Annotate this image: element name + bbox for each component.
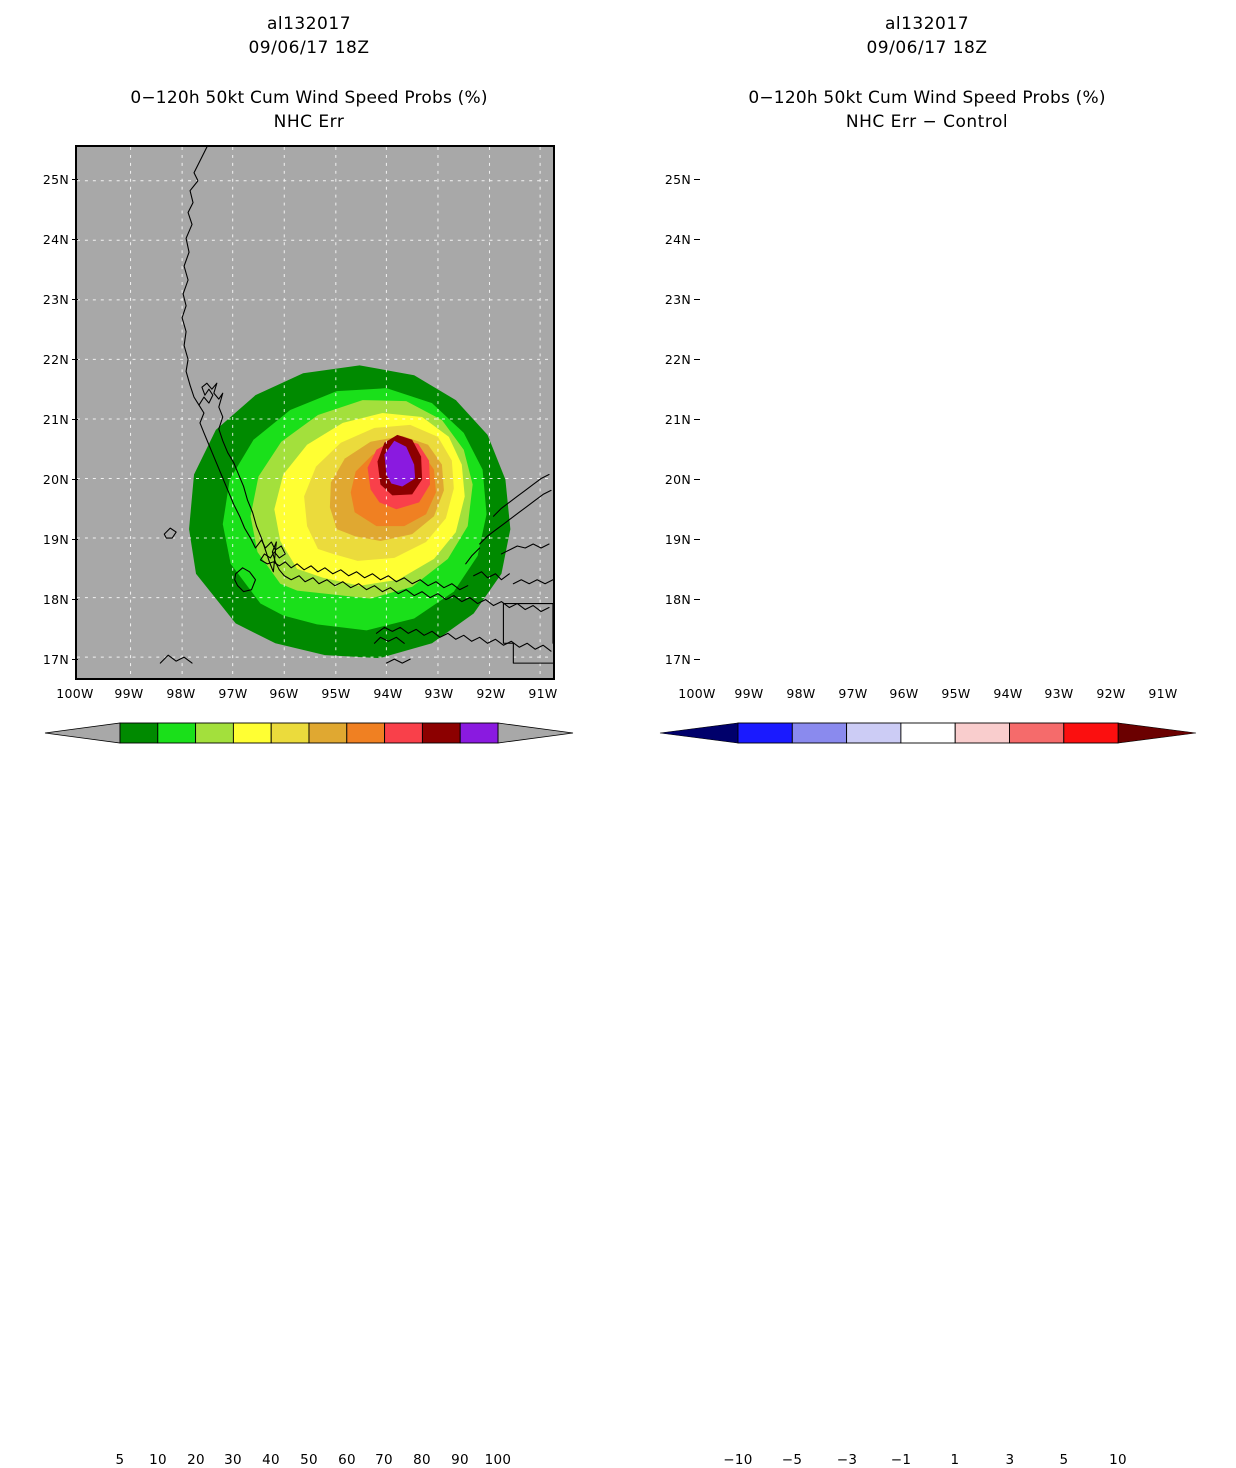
ytick-22N: 22N	[23, 352, 69, 367]
xtick-r-100W: 100W	[674, 686, 720, 701]
panel-nhc-err: al132017 09/06/17 18Z 0−120h 50kt Cum Wi…	[0, 0, 618, 800]
ytick-r-18N: 18N	[645, 592, 691, 607]
ytick-17N: 17N	[23, 652, 69, 667]
xtick-100W: 100W	[52, 686, 98, 701]
xtick-94W: 94W	[365, 686, 411, 701]
cbar-tick-neg5: −5	[769, 1452, 815, 1468]
xtick-r-93W: 93W	[1036, 686, 1082, 701]
right-sub-title: NHC Err − Control	[618, 112, 1236, 132]
cbar-tick-pos5: 5	[1041, 1452, 1087, 1468]
right-storm-id: al132017	[618, 14, 1236, 34]
ytick-24N: 24N	[23, 232, 69, 247]
xtick-r-91W: 91W	[1140, 686, 1186, 701]
ytick-r-22N: 22N	[645, 352, 691, 367]
xtick-r-98W: 98W	[778, 686, 824, 701]
left-storm-id: al132017	[0, 14, 618, 34]
left-datetime: 09/06/17 18Z	[0, 38, 618, 58]
ytick-r-24N: 24N	[645, 232, 691, 247]
colorbar-difference[interactable]: −10 −5 −3 −1 1 3 5 10	[618, 712, 1236, 772]
colorbar-svg-left	[0, 712, 618, 752]
xtick-r-97W: 97W	[830, 686, 876, 701]
xtick-99W: 99W	[106, 686, 152, 701]
map-contour-svg-left	[77, 147, 553, 678]
ytick-20N: 20N	[23, 472, 69, 487]
xtick-r-99W: 99W	[726, 686, 772, 701]
xtick-95W: 95W	[313, 686, 359, 701]
xtick-91W: 91W	[520, 686, 566, 701]
xtick-97W: 97W	[210, 686, 256, 701]
colorbar-under-arrow-left	[45, 723, 120, 743]
colorbar-over-arrow-right	[1118, 723, 1196, 743]
xtick-96W: 96W	[261, 686, 307, 701]
colorbar-swatches-right	[738, 723, 1118, 743]
ytick-21N: 21N	[23, 412, 69, 427]
xtick-r-95W: 95W	[933, 686, 979, 701]
ytick-r-19N: 19N	[645, 532, 691, 547]
ytick-18N: 18N	[23, 592, 69, 607]
cbar-tick-neg3: −3	[824, 1452, 870, 1468]
right-main-title: 0−120h 50kt Cum Wind Speed Probs (%)	[618, 88, 1236, 108]
colorbar-over-arrow-left	[498, 723, 573, 743]
ytick-r-20N: 20N	[645, 472, 691, 487]
left-sub-title: NHC Err	[0, 112, 618, 132]
right-datetime: 09/06/17 18Z	[618, 38, 1236, 58]
colorbar-under-arrow-right	[660, 723, 738, 743]
ytick-r-21N: 21N	[645, 412, 691, 427]
left-main-title: 0−120h 50kt Cum Wind Speed Probs (%)	[0, 88, 618, 108]
cbar-tick-pos3: 3	[987, 1452, 1033, 1468]
xtick-92W: 92W	[468, 686, 514, 701]
xtick-93W: 93W	[416, 686, 462, 701]
colorbar-nhc-err[interactable]: 5 10 20 30 40 50 60 70 80 90 100	[0, 712, 618, 772]
colorbar-swatches-left	[120, 723, 498, 743]
xtick-r-92W: 92W	[1088, 686, 1134, 701]
cbar-tick-neg1: −1	[878, 1452, 924, 1468]
cbar-tick-neg10: −10	[715, 1452, 761, 1468]
xtick-r-94W: 94W	[985, 686, 1031, 701]
map-plot-nhc-err[interactable]	[75, 145, 555, 680]
ytick-19N: 19N	[23, 532, 69, 547]
cbar-tick-pos1: 1	[932, 1452, 978, 1468]
cbar-tick-pos10: 10	[1095, 1452, 1141, 1468]
ytick-25N: 25N	[23, 172, 69, 187]
colorbar-svg-right	[618, 712, 1236, 752]
ytick-r-23N: 23N	[645, 292, 691, 307]
cbar-tick-100: 100	[475, 1452, 521, 1468]
panel-nhc-err-minus-control: al132017 09/06/17 18Z 0−120h 50kt Cum Wi…	[618, 0, 1236, 800]
xtick-98W: 98W	[158, 686, 204, 701]
ytick-23N: 23N	[23, 292, 69, 307]
ytick-r-25N: 25N	[645, 172, 691, 187]
ytick-r-17N: 17N	[645, 652, 691, 667]
xtick-r-96W: 96W	[881, 686, 927, 701]
